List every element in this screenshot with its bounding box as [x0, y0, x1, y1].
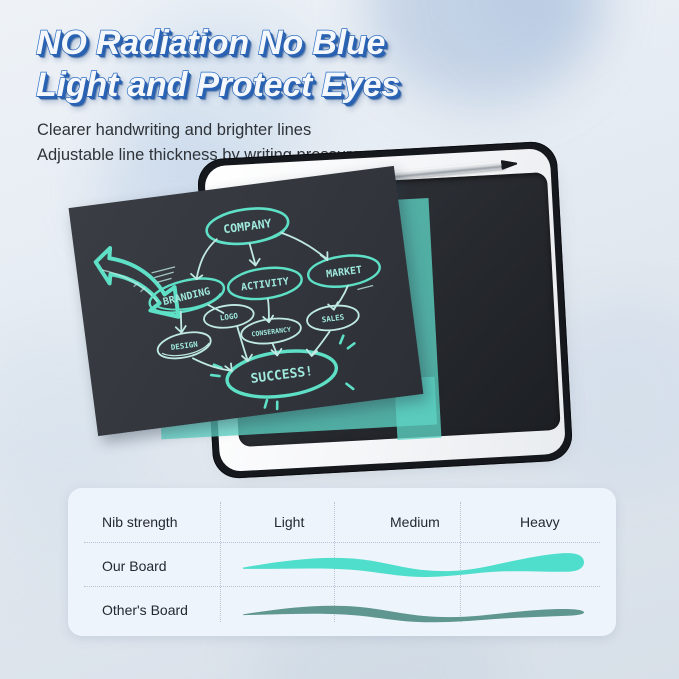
handwriting-sample-panel: COMPANY BRANDING ACTIVITY MARKET LO [69, 166, 424, 436]
table-header-medium: Medium [390, 514, 440, 530]
column-divider [460, 502, 461, 622]
headline-line-2: Light and Protect Eyes [36, 64, 656, 106]
subtitle-line-1: Clearer handwriting and brighter lines [37, 118, 637, 143]
table-row-label-others-board: Other's Board [102, 602, 188, 618]
node-label: SUCCESS! [250, 364, 314, 387]
node-success: SUCCESS! [208, 334, 361, 416]
column-divider [220, 502, 221, 622]
table-header-nib-strength: Nib strength [102, 514, 177, 530]
column-divider [334, 502, 335, 622]
node-label: SALES [321, 312, 345, 324]
node-label: COMPANY [222, 216, 272, 236]
stroke-our-board [243, 553, 584, 577]
nib-strength-comparison-table: Nib strength Light Medium Heavy Our Boar… [68, 488, 616, 636]
node-label: CONSERANCY [251, 325, 291, 338]
node-label: MARKET [326, 265, 363, 281]
stroke-others-board [243, 606, 584, 623]
row-divider [84, 542, 600, 543]
stylus-tip-icon [501, 159, 518, 170]
product-feature-page: NO Radiation No Blue Light and Protect E… [0, 0, 679, 679]
table-header-light: Light [274, 514, 304, 530]
node-activity: ACTIVITY [226, 264, 303, 303]
node-sales: SALES [306, 303, 361, 333]
node-design: DESIGN [155, 328, 214, 364]
node-label: DESIGN [170, 340, 199, 352]
node-company: COMPANY [205, 204, 291, 248]
table-row-label-our-board: Our Board [102, 558, 167, 574]
row-divider [84, 586, 600, 587]
headline-line-1: NO Radiation No Blue [36, 22, 656, 64]
node-label: ACTIVITY [240, 276, 289, 293]
table-header-heavy: Heavy [520, 514, 560, 530]
mindmap-svg: COMPANY BRANDING ACTIVITY MARKET LO [69, 166, 424, 436]
node-market: MARKET [306, 252, 381, 291]
headline: NO Radiation No Blue Light and Protect E… [36, 22, 656, 106]
annotation-market [357, 286, 373, 290]
